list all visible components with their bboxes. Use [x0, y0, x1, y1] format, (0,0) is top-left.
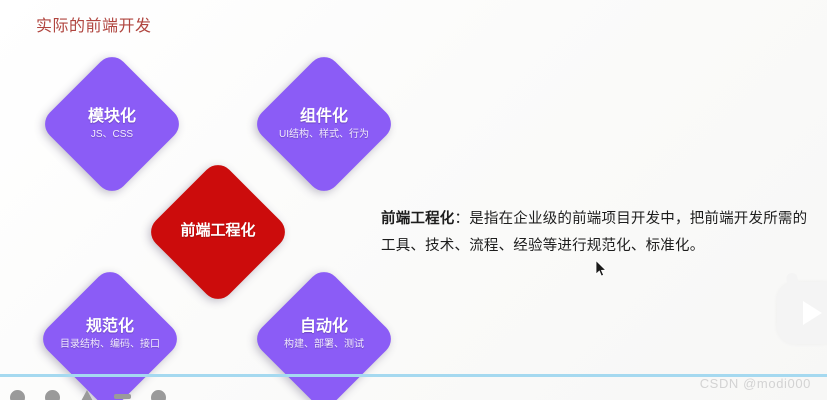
- csdn-watermark: CSDN @modi000: [700, 374, 811, 394]
- mouse-pointer-icon: [595, 260, 607, 277]
- bar-icon[interactable]: [114, 394, 131, 399]
- diagram-node-center[interactable]: [144, 158, 291, 305]
- bottom-toolbar[interactable]: [0, 390, 200, 400]
- diagram-node-modularization[interactable]: [38, 50, 185, 197]
- definition-term: 前端工程化: [381, 211, 455, 227]
- play-triangle-icon: [803, 301, 822, 325]
- diagram-node-automation[interactable]: [250, 265, 397, 400]
- slide-canvas: 实际的前端开发 模块化 JS、CSS 组件化 UI结构、样式、行为 前端工程化 …: [0, 0, 827, 400]
- circle-icon[interactable]: [151, 390, 166, 400]
- diagram-node-componentization[interactable]: [250, 50, 397, 197]
- circle-icon[interactable]: [45, 390, 60, 400]
- definition-paragraph: 前端工程化：是指在企业级的前端项目开发中，把前端开发所需的工具、技术、流程、经验…: [381, 206, 821, 260]
- play-logo-icon: [777, 282, 827, 344]
- triangle-icon[interactable]: [80, 390, 94, 400]
- page-title: 实际的前端开发: [36, 16, 152, 38]
- circle-icon[interactable]: [10, 390, 25, 400]
- definition-separator: ：: [455, 211, 470, 227]
- diagram-node-standardization[interactable]: [36, 265, 183, 400]
